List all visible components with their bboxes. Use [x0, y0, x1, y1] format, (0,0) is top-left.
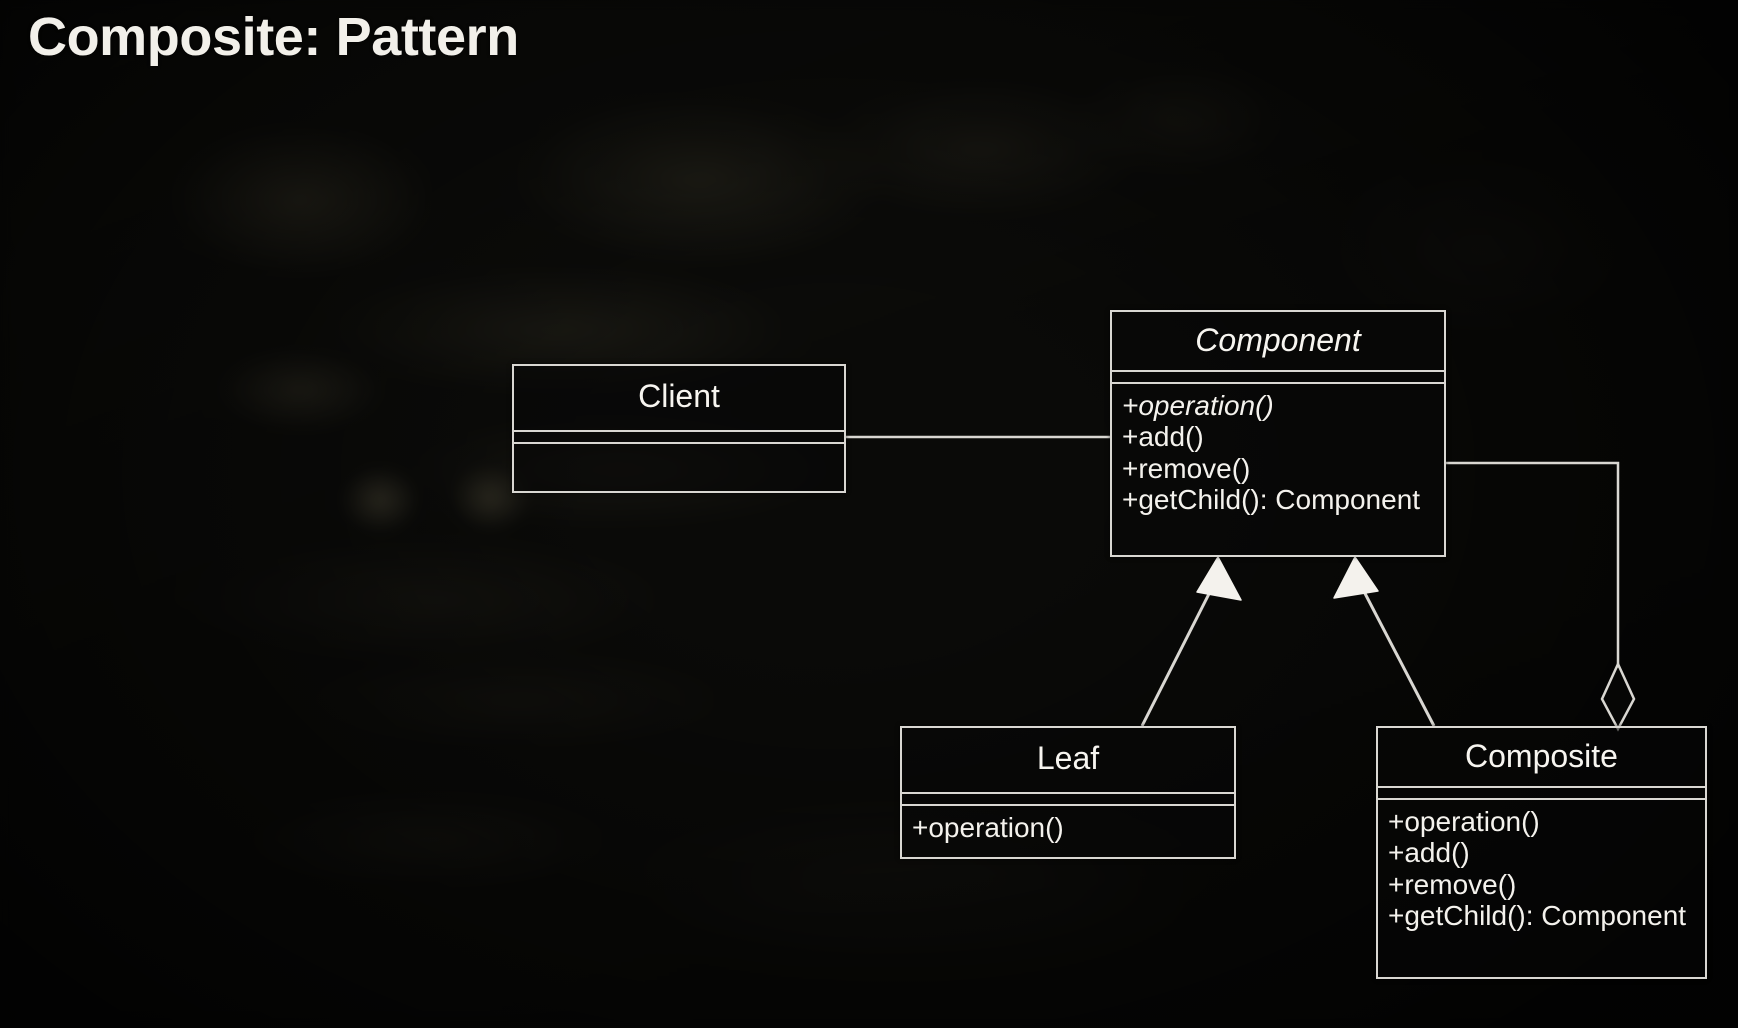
method-item: +getChild(): Component — [1388, 900, 1705, 932]
method-item: +add() — [1388, 837, 1705, 869]
class-name-component: Component — [1112, 312, 1444, 370]
method-item: +remove() — [1388, 869, 1705, 901]
methods-compartment-leaf: +operation() — [902, 806, 1234, 852]
attributes-compartment-component — [1112, 372, 1444, 382]
class-name-leaf: Leaf — [902, 728, 1234, 792]
method-item: +add() — [1122, 421, 1444, 453]
slide-canvas: Composite: Pattern Client Component +ope… — [0, 0, 1738, 1028]
class-name-client: Client — [514, 366, 844, 430]
methods-compartment-client — [514, 444, 844, 492]
method-item: +operation() — [912, 812, 1234, 844]
method-item: +remove() — [1122, 453, 1444, 485]
methods-compartment-composite: +operation() +add() +remove() +getChild(… — [1378, 800, 1705, 940]
uml-class-component[interactable]: Component +operation() +add() +remove() … — [1110, 310, 1446, 557]
uml-class-client[interactable]: Client — [512, 364, 846, 493]
methods-compartment-component: +operation() +add() +remove() +getChild(… — [1112, 384, 1444, 524]
uml-class-composite[interactable]: Composite +operation() +add() +remove() … — [1376, 726, 1707, 979]
method-item: +operation() — [1122, 390, 1444, 422]
attributes-compartment-composite — [1378, 788, 1705, 798]
class-name-composite: Composite — [1378, 728, 1705, 786]
attributes-compartment-client — [514, 432, 844, 442]
attributes-compartment-leaf — [902, 794, 1234, 804]
page-title: Composite: Pattern — [28, 6, 519, 68]
uml-class-leaf[interactable]: Leaf +operation() — [900, 726, 1236, 859]
method-item: +getChild(): Component — [1122, 484, 1444, 516]
method-item: +operation() — [1388, 806, 1705, 838]
